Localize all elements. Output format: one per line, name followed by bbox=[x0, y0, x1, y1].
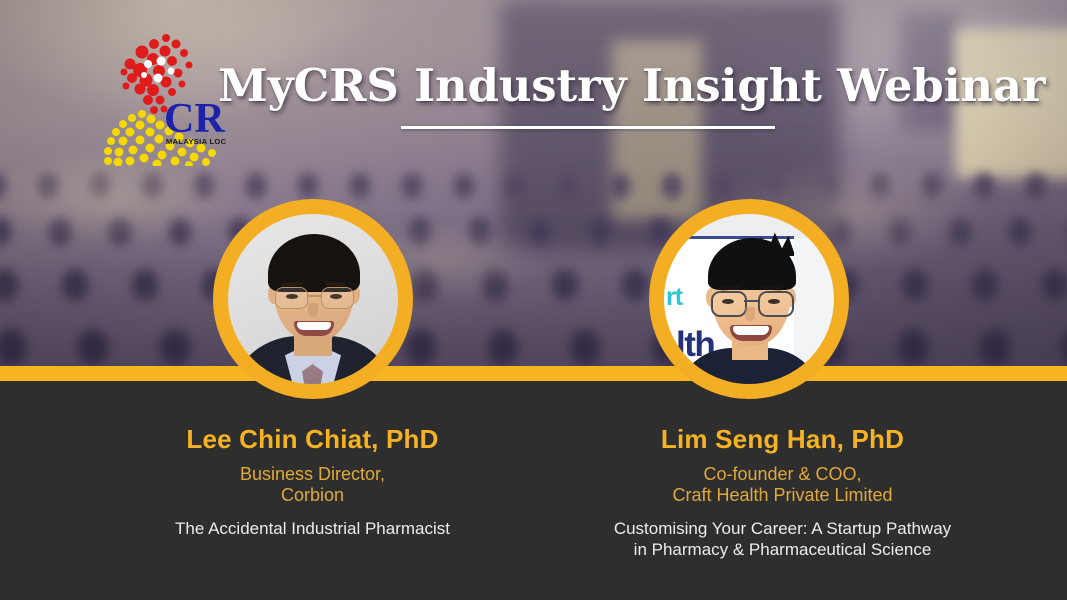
speaker-photo-lee-chin-chiat bbox=[222, 208, 404, 390]
portrait-background-top bbox=[658, 208, 840, 238]
talk-title-line: in Pharmacy & Pharmaceutical Science bbox=[510, 540, 1055, 561]
speaker-role: Co-founder & COO, Craft Health Private L… bbox=[510, 464, 1055, 506]
title-block: MyCRS Industry Insight Webinar bbox=[218, 62, 958, 129]
eyeglass-lens-right bbox=[321, 287, 354, 309]
portrait-mouth bbox=[294, 321, 334, 336]
talk-title-line: The Accidental Industrial Pharmacist bbox=[40, 519, 585, 540]
speaker-company-line: Corbion bbox=[40, 485, 585, 506]
logo-acronym: CRS bbox=[164, 96, 226, 142]
speaker-role-line: Co-founder & COO, bbox=[510, 464, 1055, 485]
portrait-teeth bbox=[733, 326, 769, 335]
portrait-nose bbox=[308, 303, 318, 317]
eyeglass-lens-right bbox=[758, 291, 794, 317]
crs-logo: CRS MALAYSIA LOCAL CHAPTER bbox=[96, 26, 226, 166]
page-title: MyCRS Industry Insight Webinar bbox=[218, 62, 958, 109]
speaker-name: Lee Chin Chiat, PhD bbox=[40, 425, 585, 455]
speaker-name: Lim Seng Han, PhD bbox=[510, 425, 1055, 455]
logo-subtitle: MALAYSIA LOCAL CHAPTER bbox=[166, 137, 226, 146]
speaker-company-line: Craft Health Private Limited bbox=[510, 485, 1055, 506]
eyeglass-lens-left bbox=[275, 287, 308, 309]
speaker-talk-title: Customising Your Career: A Startup Pathw… bbox=[510, 519, 1055, 560]
speaker-block-lim-seng-han: Lim Seng Han, PhD Co-founder & COO, Craf… bbox=[510, 425, 1055, 561]
portrait-nose bbox=[745, 307, 755, 321]
eyeglass-bridge bbox=[307, 295, 321, 297]
portrait-teeth bbox=[297, 322, 331, 330]
talk-title-line: Customising Your Career: A Startup Pathw… bbox=[510, 519, 1055, 540]
webinar-poster: rt alth bbox=[0, 0, 1067, 600]
speaker-block-lee-chin-chiat: Lee Chin Chiat, PhD Business Director, C… bbox=[40, 425, 585, 540]
title-divider-rule bbox=[401, 126, 775, 129]
banner-word-top: rt bbox=[666, 283, 682, 312]
speaker-photo-lim-seng-han: rt alth bbox=[658, 208, 840, 390]
eyeglass-lens-left bbox=[711, 291, 747, 317]
speaker-talk-title: The Accidental Industrial Pharmacist bbox=[40, 519, 585, 540]
portrait-mouth bbox=[730, 325, 772, 341]
eyeglass-bridge bbox=[744, 300, 758, 302]
speaker-role-line: Business Director, bbox=[40, 464, 585, 485]
speaker-role: Business Director, Corbion bbox=[40, 464, 585, 506]
